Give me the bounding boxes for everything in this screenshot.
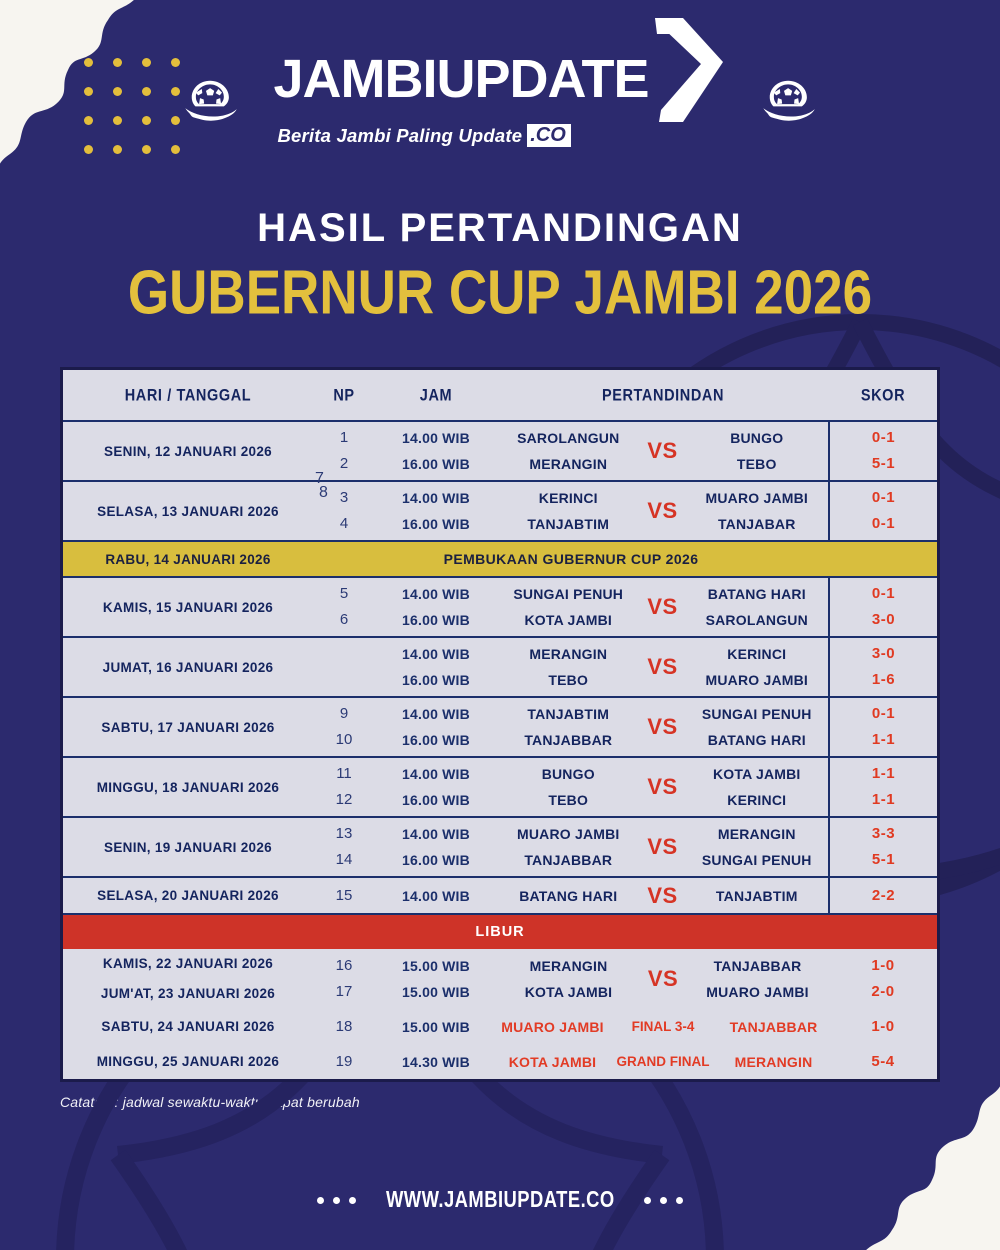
page-footer: WWW.JAMBIUPDATE.CO bbox=[0, 1189, 1000, 1212]
home-team-column: MERANGINKOTA JAMBI bbox=[501, 953, 636, 1005]
np-value bbox=[313, 641, 375, 667]
team-away: MERANGIN bbox=[690, 821, 825, 847]
table-header: HARI / TANGGAL NP JAM PERTANDINDAN SKOR bbox=[63, 370, 937, 421]
score-value: 3-0 bbox=[830, 607, 937, 633]
away-team-column: BATANG HARISAROLANGUN bbox=[690, 581, 825, 633]
score-value: 2-0 bbox=[829, 979, 937, 1005]
cell-day: MINGGU, 25 JANUARI 2026 bbox=[63, 1044, 313, 1079]
title-block: HASIL PERTANDINGAN GUBERNUR CUP JAMBI 20… bbox=[0, 206, 1000, 321]
score-value: 0-1 bbox=[830, 425, 937, 451]
team-away: KOTA JAMBI bbox=[690, 761, 825, 787]
brand-tld: .CO bbox=[527, 124, 571, 147]
team-away: TANJABBAR bbox=[718, 1014, 829, 1040]
day-label: JUM'AT, 23 JANUARI 2026 bbox=[63, 979, 313, 1009]
cell-day: SABTU, 24 JANUARI 2026 bbox=[63, 1009, 313, 1044]
score-value: 1-0 bbox=[829, 953, 937, 979]
score-value: 0-1 bbox=[830, 485, 937, 511]
team-home: TANJABTIM bbox=[501, 701, 636, 727]
cell-score: 0-15-1 bbox=[829, 421, 937, 481]
home-team-column: MERANGINTEBO bbox=[501, 641, 636, 693]
away-team-column: TANJABBARMUARO JAMBI bbox=[690, 953, 825, 1005]
cell-np: 15 bbox=[313, 877, 375, 914]
day-label: KAMIS, 22 JANUARI 2026 bbox=[63, 949, 313, 979]
np-value: 11 bbox=[313, 761, 375, 787]
schedule-table: HARI / TANGGAL NP JAM PERTANDINDAN SKOR … bbox=[63, 370, 937, 1079]
table-row-matchday: SENIN, 19 JANUARI 2026131414.00 WIB16.00… bbox=[63, 817, 937, 877]
team-home: KERINCI bbox=[501, 485, 636, 511]
table-row-final: SABTU, 24 JANUARI 20261815.00 WIB MUARO … bbox=[63, 1009, 937, 1044]
brand-wordmark: JAMBIUPDATE bbox=[273, 54, 648, 105]
team-home: MERANGIN bbox=[501, 451, 636, 477]
match-stage-label: FINAL 3-4 bbox=[608, 1014, 718, 1040]
cell-np bbox=[313, 637, 375, 697]
home-team-column: TANJABTIMTANJABBAR bbox=[501, 701, 636, 753]
home-team-column: SAROLANGUNMERANGIN bbox=[501, 425, 636, 477]
away-team-column: SUNGAI PENUHBATANG HARI bbox=[690, 701, 825, 753]
cell-match: BATANG HARI VS TANJABTIM bbox=[497, 877, 829, 914]
team-away: BATANG HARI bbox=[690, 581, 825, 607]
cell-time: 15.00 WIB15.00 WIB bbox=[375, 949, 497, 1009]
vs-label: VS bbox=[636, 654, 690, 680]
time-value: 14.00 WIB bbox=[375, 821, 497, 847]
column-header-day: HARI / TANGGAL bbox=[63, 367, 313, 424]
cell-day: JUMAT, 16 JANUARI 2026 bbox=[63, 637, 313, 697]
np-value: 6 bbox=[313, 607, 375, 633]
cell-score: 0-13-0 bbox=[829, 577, 937, 637]
page-title: GUBERNUR CUP JAMBI 2026 bbox=[0, 256, 1000, 329]
team-home: SUNGAI PENUH bbox=[501, 581, 636, 607]
table-row-matchday: SABTU, 17 JANUARI 202691014.00 WIB16.00 … bbox=[63, 697, 937, 757]
away-team-column: MERANGINSUNGAI PENUH bbox=[690, 821, 825, 873]
team-away: TEBO bbox=[690, 451, 825, 477]
cell-match: KOTA JAMBI GRAND FINAL MERANGIN bbox=[497, 1044, 829, 1079]
away-team-column: KOTA JAMBIKERINCI bbox=[690, 761, 825, 813]
score-value: 1-1 bbox=[830, 761, 937, 787]
schedule-note: Catatan : jadwal sewaktu-waktu dapat ber… bbox=[60, 1094, 940, 1110]
away-team-column: BUNGOTEBO bbox=[690, 425, 825, 477]
cell-match: SUNGAI PENUHKOTA JAMBI VS BATANG HARISAR… bbox=[497, 577, 829, 637]
team-away: SAROLANGUN bbox=[690, 607, 825, 633]
team-home: MUARO JAMBI bbox=[501, 821, 636, 847]
cell-np: 712 bbox=[313, 421, 375, 481]
time-value: 15.00 WIB bbox=[375, 979, 497, 1005]
np-value: 12 bbox=[313, 787, 375, 813]
time-value: 14.00 WIB bbox=[375, 485, 497, 511]
cell-day: SELASA, 13 JANUARI 2026 bbox=[63, 481, 313, 541]
cell-score bbox=[829, 541, 937, 577]
team-home: TANJABBAR bbox=[501, 847, 636, 873]
team-home: SAROLANGUN bbox=[501, 425, 636, 451]
cell-day: SENIN, 12 JANUARI 2026 bbox=[63, 421, 313, 481]
cell-score: 5-4 bbox=[829, 1044, 937, 1079]
brand-tagline: Berita Jambi Paling Update bbox=[277, 125, 522, 147]
team-away: MUARO JAMBI bbox=[690, 979, 825, 1005]
np-value bbox=[313, 667, 375, 693]
column-header-match: PERTANDINDAN bbox=[497, 367, 829, 424]
vs-label: VS bbox=[636, 714, 690, 740]
vs-label: VS bbox=[636, 966, 690, 992]
time-value: 16.00 WIB bbox=[375, 667, 497, 693]
np-value: 10 bbox=[313, 727, 375, 753]
cell-score: 1-11-1 bbox=[829, 757, 937, 817]
team-away: TANJABAR bbox=[690, 511, 825, 537]
cell-match: BUNGOTEBO VS KOTA JAMBIKERINCI bbox=[497, 757, 829, 817]
cell-score: 1-0 bbox=[829, 1009, 937, 1044]
footer-website-url: WWW.JAMBIUPDATE.CO bbox=[386, 1187, 615, 1213]
cell-match: KERINCITANJABTIM VS MUARO JAMBITANJABAR bbox=[497, 481, 829, 541]
cell-match: MUARO JAMBI FINAL 3-4 TANJABBAR bbox=[497, 1009, 829, 1044]
cell-match: MUARO JAMBITANJABBAR VS MERANGINSUNGAI P… bbox=[497, 817, 829, 877]
column-header-score: SKOR bbox=[829, 367, 937, 424]
score-value: 5-1 bbox=[830, 847, 937, 873]
table-row-matchday: SELASA, 20 JANUARI 20261514.00 WIB BATAN… bbox=[63, 877, 937, 914]
cell-time: 14.00 WIB16.00 WIB bbox=[375, 577, 497, 637]
cell-time: 14.00 WIB16.00 WIB bbox=[375, 481, 497, 541]
cell-score: 3-35-1 bbox=[829, 817, 937, 877]
cell-day: SELASA, 20 JANUARI 2026 bbox=[63, 877, 313, 914]
cell-np: 19 bbox=[313, 1044, 375, 1079]
column-header-np: NP bbox=[313, 367, 375, 424]
cell-day: MINGGU, 18 JANUARI 2026 bbox=[63, 757, 313, 817]
score-value: 3-0 bbox=[830, 641, 937, 667]
score-value: 2-2 bbox=[830, 883, 937, 909]
away-team-column: KERINCIMUARO JAMBI bbox=[690, 641, 825, 693]
footer-dots-left bbox=[317, 1197, 356, 1204]
np-value: 17 bbox=[313, 979, 375, 1005]
time-value: 14.00 WIB bbox=[375, 701, 497, 727]
cell-score: 2-2 bbox=[829, 877, 937, 914]
vs-label: VS bbox=[636, 774, 690, 800]
np-float-value: 8 bbox=[319, 484, 328, 502]
home-team-column: BUNGOTEBO bbox=[501, 761, 636, 813]
team-home: MERANGIN bbox=[501, 953, 636, 979]
np-value: 9 bbox=[313, 701, 375, 727]
score-value: 3-3 bbox=[830, 821, 937, 847]
cell-event-text: PEMBUKAAN GUBERNUR CUP 2026 bbox=[313, 541, 829, 577]
time-value: 16.00 WIB bbox=[375, 787, 497, 813]
cell-np: 1314 bbox=[313, 817, 375, 877]
table-row-holiday: LIBUR bbox=[63, 914, 937, 949]
home-team-column: KERINCITANJABTIM bbox=[501, 485, 636, 537]
cell-match: TANJABTIMTANJABBAR VS SUNGAI PENUHBATANG… bbox=[497, 697, 829, 757]
time-value: 16.00 WIB bbox=[375, 511, 497, 537]
table-header-row: HARI / TANGGAL NP JAM PERTANDINDAN SKOR bbox=[63, 370, 937, 421]
time-value: 16.00 WIB bbox=[375, 607, 497, 633]
table-row-matchday: MINGGU, 18 JANUARI 2026111214.00 WIB16.0… bbox=[63, 757, 937, 817]
time-value: 16.00 WIB bbox=[375, 727, 497, 753]
cell-time: 14.00 WIB16.00 WIB bbox=[375, 817, 497, 877]
team-away: SUNGAI PENUH bbox=[690, 847, 825, 873]
time-value: 14.00 WIB bbox=[375, 425, 497, 451]
table-row-opening-ceremony: RABU, 14 JANUARI 2026PEMBUKAAN GUBERNUR … bbox=[63, 541, 937, 577]
time-value: 14.00 WIB bbox=[375, 883, 497, 909]
cell-time: 14.00 WIB16.00 WIB bbox=[375, 757, 497, 817]
table-row-matchday: JUMAT, 16 JANUARI 2026 14.00 WIB16.00 WI… bbox=[63, 637, 937, 697]
cell-time: 14.00 WIB16.00 WIB bbox=[375, 637, 497, 697]
cell-day: SENIN, 19 JANUARI 2026 bbox=[63, 817, 313, 877]
cell-day: RABU, 14 JANUARI 2026 bbox=[63, 541, 313, 577]
vs-label: VS bbox=[636, 834, 690, 860]
vs-label: VS bbox=[636, 594, 690, 620]
team-home: KOTA JAMBI bbox=[501, 607, 636, 633]
cell-match: MERANGINKOTA JAMBI VS TANJABBARMUARO JAM… bbox=[497, 949, 829, 1009]
cell-day: KAMIS, 15 JANUARI 2026 bbox=[63, 577, 313, 637]
soccer-ball-icon-right bbox=[761, 78, 817, 122]
table-row-matchday: SELASA, 13 JANUARI 202683414.00 WIB16.00… bbox=[63, 481, 937, 541]
vs-label: VS bbox=[636, 883, 690, 909]
cell-np: 910 bbox=[313, 697, 375, 757]
team-home: TEBO bbox=[501, 787, 636, 813]
cell-score: 0-10-1 bbox=[829, 481, 937, 541]
team-away: BATANG HARI bbox=[690, 727, 825, 753]
footer-dots-right bbox=[644, 1197, 683, 1204]
away-team-column: TANJABTIM bbox=[690, 883, 825, 909]
home-team-column: BATANG HARI bbox=[501, 883, 636, 909]
cell-match: MERANGINTEBO VS KERINCIMUARO JAMBI bbox=[497, 637, 829, 697]
time-value: 16.00 WIB bbox=[375, 451, 497, 477]
score-value: 0-1 bbox=[830, 701, 937, 727]
score-value: 0-1 bbox=[830, 511, 937, 537]
np-value: 5 bbox=[313, 581, 375, 607]
time-value: 14.00 WIB bbox=[375, 761, 497, 787]
team-home: MERANGIN bbox=[501, 641, 636, 667]
column-header-time: JAM bbox=[375, 367, 497, 424]
brand-logo: JAMBIUPDATE Berita Jambi Paling Update .… bbox=[273, 54, 726, 147]
table-row-matchday: SENIN, 12 JANUARI 202671214.00 WIB16.00 … bbox=[63, 421, 937, 481]
team-home: BATANG HARI bbox=[501, 883, 636, 909]
team-away: BUNGO bbox=[690, 425, 825, 451]
team-home: TANJABBAR bbox=[501, 727, 636, 753]
np-value: 13 bbox=[313, 821, 375, 847]
team-away: MERANGIN bbox=[718, 1049, 829, 1075]
cell-score: 1-02-0 bbox=[829, 949, 937, 1009]
cell-np: 1617 bbox=[313, 949, 375, 1009]
time-value: 14.00 WIB bbox=[375, 641, 497, 667]
table-body: SENIN, 12 JANUARI 202671214.00 WIB16.00 … bbox=[63, 421, 937, 1079]
cell-np: 834 bbox=[313, 481, 375, 541]
cell-np: 18 bbox=[313, 1009, 375, 1044]
team-away: SUNGAI PENUH bbox=[690, 701, 825, 727]
np-value: 15 bbox=[313, 883, 375, 909]
table-row-semifinals: KAMIS, 22 JANUARI 2026JUM'AT, 23 JANUARI… bbox=[63, 949, 937, 1009]
match-stage-label: GRAND FINAL bbox=[608, 1049, 718, 1075]
score-value: 1-1 bbox=[830, 727, 937, 753]
team-home: KOTA JAMBI bbox=[497, 1049, 608, 1075]
cell-np: 1112 bbox=[313, 757, 375, 817]
team-away: MUARO JAMBI bbox=[690, 485, 825, 511]
cell-time: 15.00 WIB bbox=[375, 1009, 497, 1044]
np-value: 4 bbox=[313, 511, 375, 537]
score-value: 0-1 bbox=[830, 581, 937, 607]
cell-time: 14.00 WIB16.00 WIB bbox=[375, 421, 497, 481]
team-home: MUARO JAMBI bbox=[497, 1014, 608, 1040]
team-away: TANJABTIM bbox=[690, 883, 825, 909]
table-row-matchday: KAMIS, 15 JANUARI 20265614.00 WIB16.00 W… bbox=[63, 577, 937, 637]
cell-holiday-text: LIBUR bbox=[63, 914, 937, 949]
team-home: TANJABTIM bbox=[501, 511, 636, 537]
time-value: 14.00 WIB bbox=[375, 581, 497, 607]
page-header: JAMBIUPDATE Berita Jambi Paling Update .… bbox=[0, 0, 1000, 200]
home-team-column: SUNGAI PENUHKOTA JAMBI bbox=[501, 581, 636, 633]
team-away: KERINCI bbox=[690, 641, 825, 667]
cell-day: KAMIS, 22 JANUARI 2026JUM'AT, 23 JANUARI… bbox=[63, 949, 313, 1009]
cell-time: 14.00 WIB bbox=[375, 877, 497, 914]
team-home: TEBO bbox=[501, 667, 636, 693]
schedule-card: HARI / TANGGAL NP JAM PERTANDINDAN SKOR … bbox=[60, 367, 940, 1082]
time-value: 15.00 WIB bbox=[375, 953, 497, 979]
vs-label: VS bbox=[636, 438, 690, 464]
np-value: 16 bbox=[313, 953, 375, 979]
np-value: 1 bbox=[313, 425, 375, 451]
team-home: BUNGO bbox=[501, 761, 636, 787]
team-away: MUARO JAMBI bbox=[690, 667, 825, 693]
away-team-column: MUARO JAMBITANJABAR bbox=[690, 485, 825, 537]
page-kicker: HASIL PERTANDINGAN bbox=[0, 206, 1000, 251]
cell-score: 3-01-6 bbox=[829, 637, 937, 697]
chevron-bracket-icon bbox=[643, 18, 727, 122]
home-team-column: MUARO JAMBITANJABBAR bbox=[501, 821, 636, 873]
team-away: TANJABBAR bbox=[690, 953, 825, 979]
vs-label: VS bbox=[636, 498, 690, 524]
time-value: 16.00 WIB bbox=[375, 847, 497, 873]
np-value: 14 bbox=[313, 847, 375, 873]
cell-time: 14.00 WIB16.00 WIB bbox=[375, 697, 497, 757]
score-value: 1-6 bbox=[830, 667, 937, 693]
cell-score: 0-11-1 bbox=[829, 697, 937, 757]
team-away: KERINCI bbox=[690, 787, 825, 813]
score-value: 1-1 bbox=[830, 787, 937, 813]
score-value: 5-1 bbox=[830, 451, 937, 477]
cell-match: SAROLANGUNMERANGIN VS BUNGOTEBO bbox=[497, 421, 829, 481]
cell-np: 56 bbox=[313, 577, 375, 637]
table-row-final: MINGGU, 25 JANUARI 20261914.30 WIB KOTA … bbox=[63, 1044, 937, 1079]
team-home: KOTA JAMBI bbox=[501, 979, 636, 1005]
cell-day: SABTU, 17 JANUARI 2026 bbox=[63, 697, 313, 757]
soccer-ball-icon-left bbox=[183, 78, 239, 122]
cell-time: 14.30 WIB bbox=[375, 1044, 497, 1079]
